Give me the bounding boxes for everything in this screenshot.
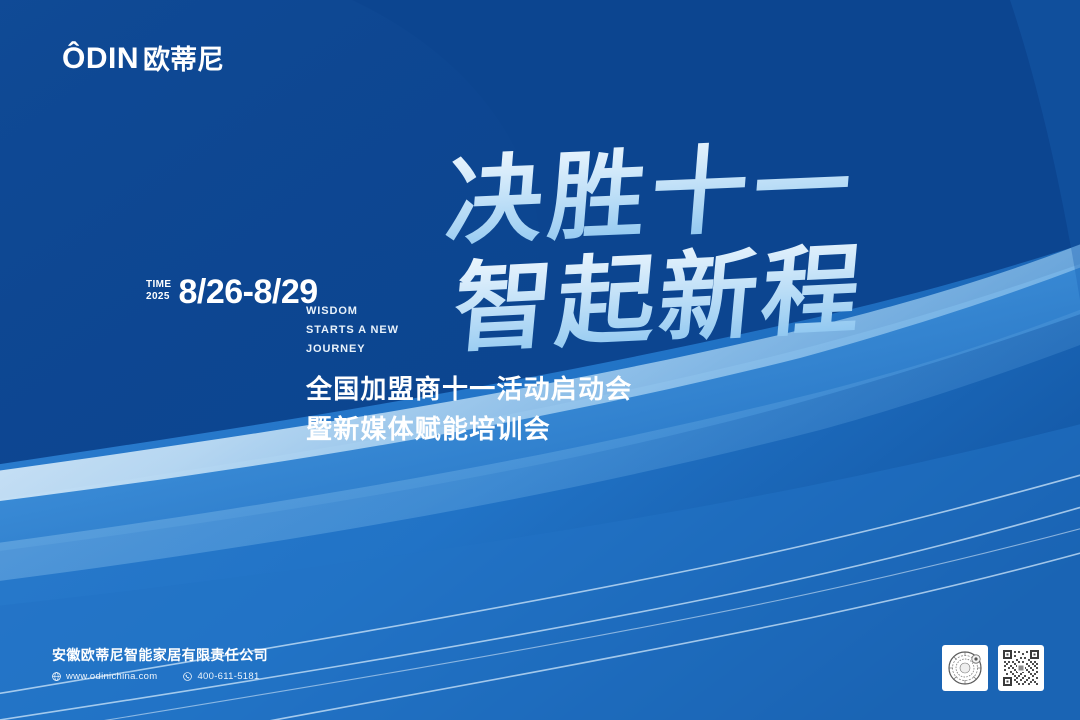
logo-latin-text: ÔDIN bbox=[62, 44, 139, 74]
time-label-year: 2025 bbox=[146, 291, 172, 302]
tagline-line-3: JOURNEY bbox=[306, 340, 399, 359]
headline-calligraphy: 决胜十一 智起新程 bbox=[430, 110, 910, 335]
tagline-line-1: WISDOM bbox=[306, 302, 399, 321]
logo-chinese-text: 欧蒂尼 bbox=[143, 47, 224, 74]
subtitle-line-1: 全国加盟商十一活动启动会 bbox=[306, 370, 632, 410]
website-text: www.odinichina.com bbox=[66, 671, 157, 682]
event-date-range: 8/26-8/29 bbox=[179, 275, 318, 309]
event-date-block: TIME 2025 8/26-8/29 bbox=[146, 275, 318, 309]
phone-text: 400-611-5181 bbox=[197, 671, 259, 682]
headline-line-2: 智起新程 bbox=[448, 210, 871, 372]
phone-item[interactable]: 400-611-5181 bbox=[183, 671, 259, 682]
time-label: TIME 2025 bbox=[146, 279, 172, 304]
contact-row: www.odinichina.com 400-611-5181 bbox=[52, 671, 268, 682]
english-tagline: WISDOM STARTS A NEW JOURNEY bbox=[306, 302, 399, 359]
subtitle-line-2: 暨新媒体赋能培训会 bbox=[306, 410, 632, 450]
tagline-line-2: STARTS A NEW bbox=[306, 321, 399, 340]
code-group bbox=[942, 645, 1044, 691]
footer-info: 安徽欧蒂尼智能家居有限责任公司 www.odinichina.com 400-6… bbox=[52, 645, 268, 682]
event-subtitle: 全国加盟商十一活动启动会 暨新媒体赋能培训会 bbox=[306, 370, 632, 449]
company-name: 安徽欧蒂尼智能家居有限责任公司 bbox=[52, 645, 268, 665]
time-label-top: TIME bbox=[146, 279, 172, 290]
qr-code[interactable] bbox=[998, 645, 1044, 691]
phone-icon bbox=[183, 672, 192, 681]
globe-icon bbox=[52, 672, 61, 681]
wechat-circle-code[interactable] bbox=[942, 645, 988, 691]
website-item[interactable]: www.odinichina.com bbox=[52, 671, 157, 682]
brand-logo: ÔDIN 欧蒂尼 bbox=[62, 44, 224, 74]
poster-canvas: ÔDIN 欧蒂尼 决胜十一 智起新程 TIME 2025 8/26-8/29 W… bbox=[0, 0, 1080, 720]
